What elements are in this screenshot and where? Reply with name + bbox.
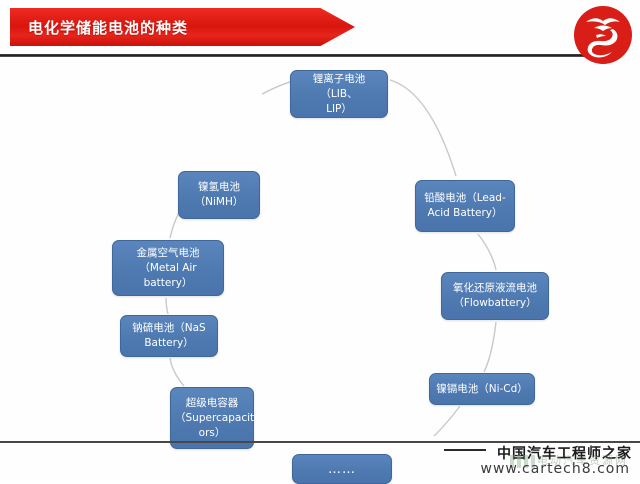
- watermark-rule: [444, 449, 486, 451]
- node-nickel-metal-hydride[interactable]: 镍氢电池 （NiMH）: [178, 171, 260, 219]
- node-line: （Supercapacit: [175, 411, 249, 426]
- node-line: 镍镉电池（Ni-Cd）: [434, 382, 530, 397]
- node-line: （Metal Air: [117, 261, 219, 276]
- node-line: 钠硫电池（NaS: [125, 321, 213, 336]
- node-line: 超级电容器: [175, 396, 249, 411]
- page-title: 电化学储能电池的种类: [28, 17, 188, 38]
- node-metal-air[interactable]: 金属空气电池 （Metal Air battery）: [112, 240, 224, 296]
- node-line: ors）: [175, 426, 249, 441]
- node-line: Battery）: [125, 336, 213, 351]
- watermark: 中国汽车工程师之家 电动汽车资源网 www.cartech8.com: [444, 443, 634, 479]
- node-lead-acid[interactable]: 铅酸电池（Lead- Acid Battery）: [415, 180, 515, 232]
- node-line: （NiMH）: [183, 195, 255, 210]
- node-line: LIP）: [295, 102, 383, 117]
- node-supercapacitor[interactable]: 超级电容器 （Supercapacit ors）: [170, 387, 254, 449]
- watermark-url: www.cartech8.com: [481, 461, 630, 477]
- node-nickel-cadmium[interactable]: 镍镉电池（Ni-Cd）: [429, 373, 535, 405]
- node-line: （Flowbattery）: [446, 296, 544, 311]
- node-line: battery）: [117, 276, 219, 291]
- title-banner: 电化学储能电池的种类: [10, 8, 355, 46]
- node-line: ……: [297, 462, 387, 477]
- slide-canvas: 电化学储能电池的种类: [0, 0, 640, 480]
- cycle-diagram: 锂离子电池（LIB、 LIP） 铅酸电池（Lead- Acid Battery）…: [0, 56, 640, 436]
- node-sodium-sulfur[interactable]: 钠硫电池（NaS Battery）: [120, 315, 218, 357]
- node-line: 锂离子电池（LIB、: [295, 72, 383, 102]
- node-lithium-ion[interactable]: 锂离子电池（LIB、 LIP）: [290, 70, 388, 118]
- node-line: 铅酸电池（Lead-: [420, 191, 510, 206]
- node-line: 镍氢电池: [183, 180, 255, 195]
- node-flow-battery[interactable]: 氧化还原液流电池 （Flowbattery）: [441, 272, 549, 320]
- node-line: 氧化还原液流电池: [446, 281, 544, 296]
- node-line: 金属空气电池: [117, 246, 219, 261]
- node-line: Acid Battery）: [420, 206, 510, 221]
